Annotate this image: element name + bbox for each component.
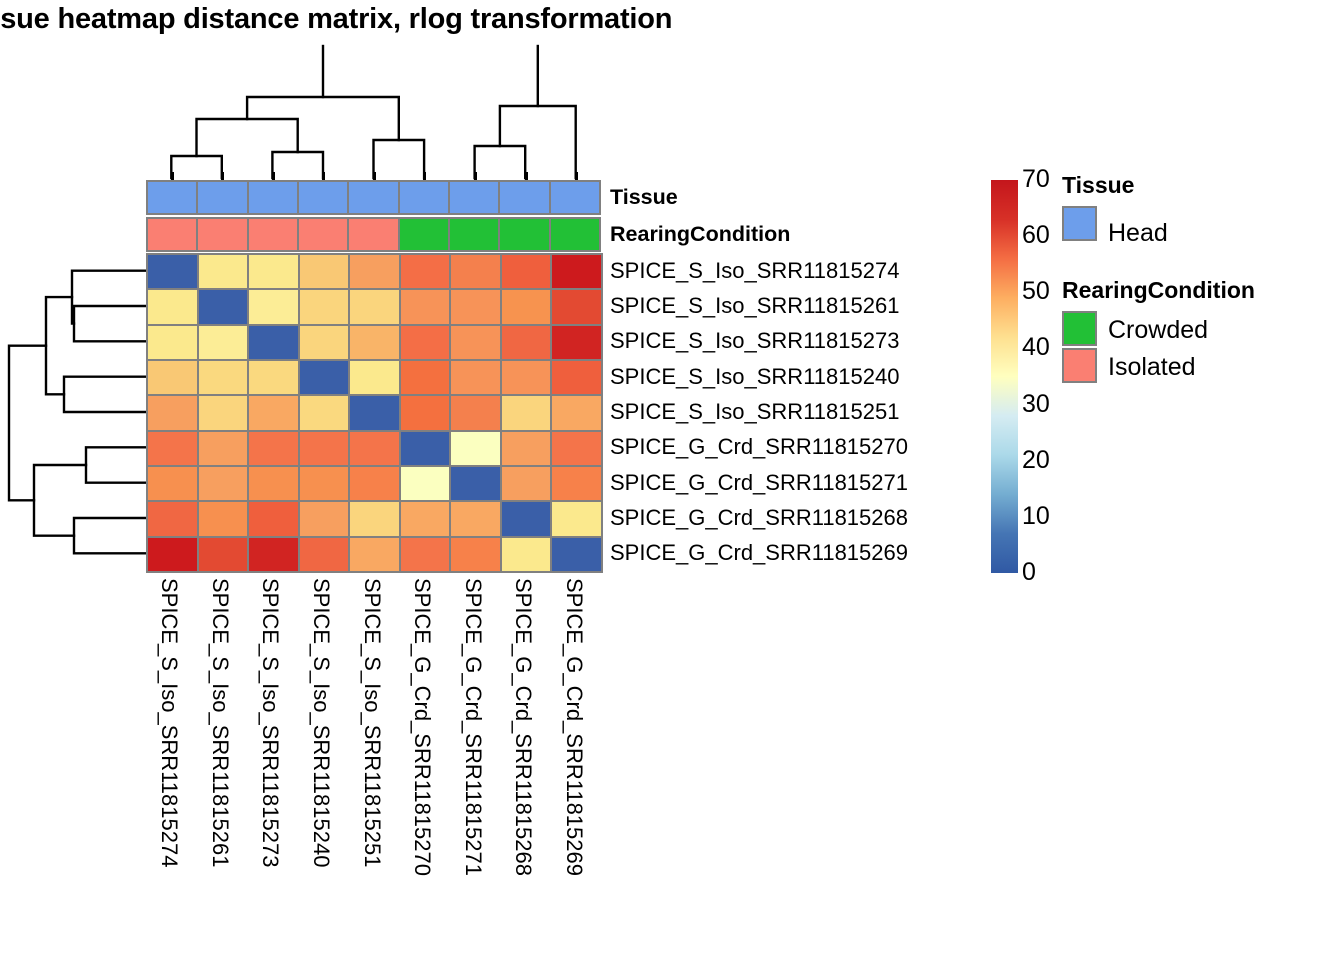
dendro-link [197, 119, 298, 156]
annotation-bar-rearingcondition [146, 217, 601, 252]
heatmap-grid [146, 253, 601, 571]
dendro-link [272, 152, 323, 178]
row-label: SPICE_G_Crd_SRR11815271 [610, 472, 908, 494]
heatmap-cell [197, 465, 250, 502]
heatmap-cell [500, 500, 553, 537]
row-label: SPICE_S_Iso_SRR11815251 [610, 401, 899, 423]
column-dendrogram [146, 36, 601, 178]
heatmap-cell [399, 500, 452, 537]
column-tick [272, 172, 275, 180]
column-label-group: SPICE_S_Iso_SRR11815274SPICE_S_Iso_SRR11… [146, 578, 601, 958]
dendro-link [86, 447, 146, 482]
column-tick [221, 172, 224, 180]
dendro-link [72, 271, 146, 324]
column-label: SPICE_G_Crd_SRR11815269 [563, 578, 585, 876]
heatmap-cell [247, 465, 300, 502]
heatmap-cell [197, 253, 250, 290]
heatmap-cell [146, 500, 199, 537]
heatmap-cell [399, 394, 452, 431]
colorbar[interactable] [991, 180, 1018, 573]
heatmap-cell [146, 394, 199, 431]
heatmap-cell [298, 253, 351, 290]
heatmap-figure: tissue heatmap distance matrix, rlog tra… [0, 0, 1344, 960]
annotation-cell [498, 217, 550, 252]
heatmap-cell [449, 500, 502, 537]
heatmap-cell [247, 359, 300, 396]
heatmap-cell [146, 324, 199, 361]
heatmap-cell [348, 430, 401, 467]
colorbar-tick-label: 40 [1022, 335, 1050, 360]
column-label: SPICE_G_Crd_SRR11815268 [512, 578, 534, 876]
heatmap-cell [449, 536, 502, 573]
heatmap-cell [449, 253, 502, 290]
heatmap-cell [550, 536, 603, 573]
colorbar-tick-label: 70 [1022, 167, 1050, 192]
annotation-cell [146, 217, 198, 252]
heatmap-cell [197, 324, 250, 361]
row-label: SPICE_S_Iso_SRR11815274 [610, 260, 899, 282]
heatmap-cell [298, 394, 351, 431]
column-tick [575, 172, 578, 180]
heatmap-cell [449, 465, 502, 502]
heatmap-cell [348, 324, 401, 361]
heatmap-cell [298, 536, 351, 573]
column-label: SPICE_S_Iso_SRR11815274 [158, 578, 180, 867]
heatmap-cell [550, 253, 603, 290]
row-label: SPICE_G_Crd_SRR11815268 [610, 507, 908, 529]
heatmap-cell [247, 253, 300, 290]
heatmap-cell [348, 465, 401, 502]
heatmap-cell [500, 253, 553, 290]
annotation-cell [347, 180, 399, 215]
annotation-cell [196, 180, 248, 215]
annotation-bar-tissue [146, 180, 601, 215]
annotation-cell [196, 217, 248, 252]
heatmap-cell [197, 394, 250, 431]
column-label: SPICE_S_Iso_SRR11815273 [259, 578, 281, 867]
annotation-cell [297, 217, 349, 252]
annotation-cell [549, 217, 601, 252]
colorbar-tick-label: 60 [1022, 223, 1050, 248]
heatmap-cell [449, 394, 502, 431]
heatmap-cell [500, 465, 553, 502]
heatmap-cell [197, 430, 250, 467]
colorbar-tick-label: 0 [1022, 560, 1036, 585]
colorbar-tick-label: 50 [1022, 279, 1050, 304]
dendro-link [74, 518, 146, 553]
column-tick [474, 172, 477, 180]
heatmap-cell [348, 253, 401, 290]
heatmap-cell [399, 288, 452, 325]
heatmap-cell [197, 288, 250, 325]
row-label: SPICE_S_Iso_SRR11815261 [610, 295, 899, 317]
column-tick [373, 172, 376, 180]
heatmap-cell [500, 394, 553, 431]
heatmap-cell [247, 536, 300, 573]
heatmap-cell [146, 288, 199, 325]
annotation-cell [398, 217, 450, 252]
heatmap-cell [348, 536, 401, 573]
heatmap-cell [146, 465, 199, 502]
heatmap-cell [449, 359, 502, 396]
annotation-cell [549, 180, 601, 215]
page-title: tissue heatmap distance matrix, rlog tra… [0, 2, 967, 36]
annotation-cell [247, 217, 299, 252]
heatmap-cell [399, 430, 452, 467]
dendro-link [46, 297, 72, 394]
heatmap-cell [247, 500, 300, 537]
dendro-link [64, 377, 146, 412]
heatmap-cell [500, 288, 553, 325]
column-tick [171, 172, 174, 180]
heatmap-cell [550, 465, 603, 502]
heatmap-cell [550, 288, 603, 325]
heatmap-cell [197, 500, 250, 537]
heatmap-cell [197, 536, 250, 573]
annotation-cell [247, 180, 299, 215]
dendro-link [500, 106, 576, 178]
column-label: SPICE_G_Crd_SRR11815270 [411, 578, 433, 876]
heatmap-cell [247, 324, 300, 361]
legend-swatch-isolated [1062, 348, 1097, 383]
heatmap-cell [399, 253, 452, 290]
dendro-link [475, 146, 526, 178]
colorbar-tick-label: 30 [1022, 392, 1050, 417]
annotation-cell [448, 217, 500, 252]
dendro-link [74, 306, 146, 341]
column-label: SPICE_S_Iso_SRR11815251 [361, 578, 383, 867]
dendro-link [374, 140, 425, 178]
heatmap-cell [298, 430, 351, 467]
column-label: SPICE_G_Crd_SRR11815271 [462, 578, 484, 876]
row-label-group: SPICE_S_Iso_SRR11815274SPICE_S_Iso_SRR11… [610, 253, 1010, 571]
legend-label-head: Head [1108, 219, 1168, 247]
dendro-link [9, 346, 46, 501]
heatmap-cell [550, 324, 603, 361]
heatmap-cell [298, 288, 351, 325]
heatmap-cell [399, 536, 452, 573]
legend-title-tissue: Tissue [1062, 172, 1134, 199]
heatmap-cell [500, 359, 553, 396]
annotation-cell [297, 180, 349, 215]
annotation-cell [398, 180, 450, 215]
heatmap-cell [247, 394, 300, 431]
annotation-label-tissue: Tissue [610, 184, 678, 210]
heatmap-cell [146, 253, 199, 290]
annotation-cell [347, 217, 399, 252]
row-label: SPICE_S_Iso_SRR11815273 [610, 330, 899, 352]
row-label: SPICE_G_Crd_SRR11815269 [610, 542, 908, 564]
heatmap-cell [449, 288, 502, 325]
legend-label-isolated: Isolated [1108, 353, 1196, 381]
dendro-link [171, 156, 222, 178]
heatmap-cell [449, 430, 502, 467]
heatmap-cell [550, 394, 603, 431]
column-label: SPICE_S_Iso_SRR11815240 [310, 578, 332, 867]
heatmap-cell [399, 359, 452, 396]
column-label: SPICE_S_Iso_SRR11815261 [209, 578, 231, 867]
heatmap-cell [449, 324, 502, 361]
row-label: SPICE_G_Crd_SRR11815270 [610, 436, 908, 458]
heatmap-cell [146, 536, 199, 573]
dendro-link [34, 465, 86, 536]
heatmap-cell [500, 324, 553, 361]
heatmap-cell [247, 288, 300, 325]
legend-label-crowded: Crowded [1108, 316, 1208, 344]
heatmap-cell [348, 394, 401, 431]
heatmap-cell [348, 500, 401, 537]
annotation-cell [146, 180, 198, 215]
heatmap-cell [146, 430, 199, 467]
annotation-cell [498, 180, 550, 215]
heatmap-cell [399, 324, 452, 361]
annotation-label-rearingcondition: RearingCondition [610, 221, 790, 247]
column-tick [423, 172, 426, 180]
heatmap-cell [500, 430, 553, 467]
colorbar-tick-label: 20 [1022, 448, 1050, 473]
heatmap-cell [550, 359, 603, 396]
column-tick [525, 172, 528, 180]
legend-swatch-crowded [1062, 311, 1097, 346]
heatmap-cell [500, 536, 553, 573]
legend-swatch-head [1062, 206, 1097, 241]
column-tick [322, 172, 325, 180]
heatmap-cell [298, 465, 351, 502]
heatmap-cell [298, 359, 351, 396]
heatmap-cell [348, 359, 401, 396]
heatmap-cell [399, 465, 452, 502]
colorbar-gradient [991, 180, 1018, 573]
row-label: SPICE_S_Iso_SRR11815240 [610, 366, 899, 388]
heatmap-cell [550, 500, 603, 537]
colorbar-tick-label: 10 [1022, 504, 1050, 529]
heatmap-cell [348, 288, 401, 325]
annotation-cell [448, 180, 500, 215]
legend-title-rearingcondition: RearingCondition [1062, 277, 1255, 304]
heatmap-cell [247, 430, 300, 467]
heatmap-cell [298, 500, 351, 537]
heatmap-cell [146, 359, 199, 396]
heatmap-cell [197, 359, 250, 396]
heatmap-cell [550, 430, 603, 467]
heatmap-cell [298, 324, 351, 361]
row-dendrogram [4, 253, 146, 571]
